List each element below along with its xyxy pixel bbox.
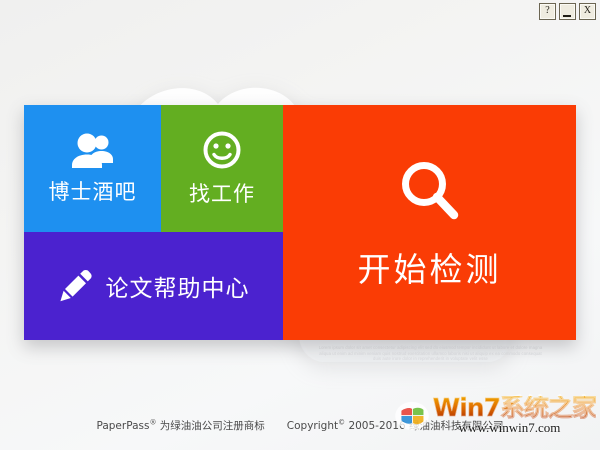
tile-find-job-label: 找工作 [189,178,255,208]
footer: PaperPass® 为绿油油公司注册商标 Copyright© 2005-20… [0,418,600,433]
tile-thesis-help-center-label: 论文帮助中心 [106,269,250,303]
app-window: ? X 博士酒吧 [0,0,600,450]
minimize-icon [563,15,571,17]
users-icon [70,132,116,168]
tile-group-left: 博士酒吧 找工作 [24,105,283,340]
tile-group-top: 博士酒吧 找工作 [24,105,283,232]
help-button[interactable]: ? [539,3,556,20]
close-button[interactable]: X [579,3,596,20]
start-detection-button[interactable]: 开始检测 [283,105,576,340]
tile-thesis-help-center[interactable]: 论文帮助中心 [24,232,283,340]
close-button-label: X [584,5,591,16]
decorative-faint-text: Lorem ipsum dolor sit amet consectetur a… [318,345,543,362]
smiley-icon [202,130,242,170]
footer-brand: PaperPass [96,420,149,432]
footer-copyright-label: Copyright [287,420,338,432]
tile-doctor-bar-label: 博士酒吧 [49,176,137,206]
footer-copyright-years: 2005-2016 绿油油科技有限公司 [345,420,503,432]
minimize-button[interactable] [559,3,576,20]
start-detection-label: 开始检测 [358,243,502,291]
help-button-label: ? [545,5,549,16]
window-controls: ? X [539,3,596,20]
search-icon [394,155,466,227]
tile-doctor-bar[interactable]: 博士酒吧 [24,105,161,232]
main-panel: 博士酒吧 找工作 [24,105,576,340]
footer-copyright: Copyright© 2005-2016 绿油油科技有限公司 [287,418,504,433]
title-bar: ? X [0,0,600,22]
pencil-icon [58,268,94,304]
footer-trademark-text: 为绿油油公司注册商标 [156,420,264,432]
tile-find-job[interactable]: 找工作 [161,105,283,232]
footer-trademark: PaperPass® 为绿油油公司注册商标 [96,418,264,433]
